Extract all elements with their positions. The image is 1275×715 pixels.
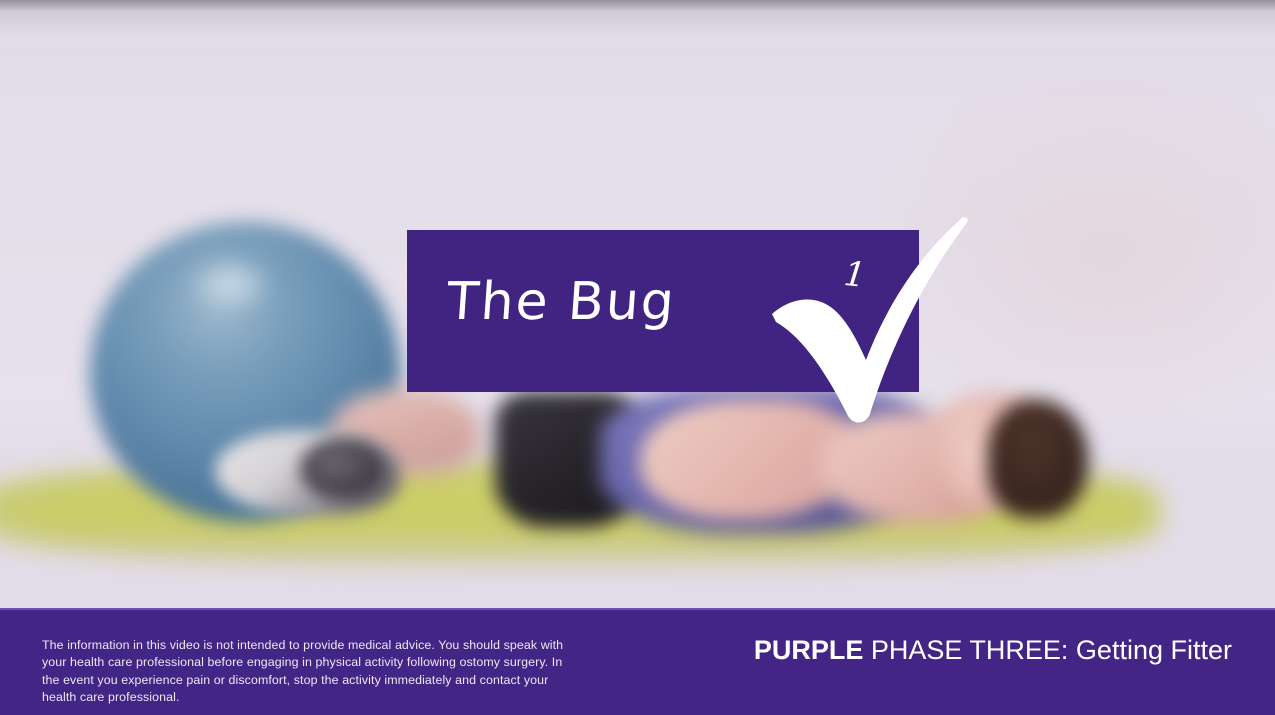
program-phase-label: PHASE THREE: Getting Fitter	[863, 635, 1232, 665]
lower-third-bar: The information in this video is not int…	[0, 608, 1275, 715]
person-shoe-sole	[300, 438, 386, 500]
exercise-ball-highlight	[185, 255, 275, 313]
program-brand-label: PURPLE	[754, 635, 864, 665]
exercise-title-banner: The Bug	[407, 230, 919, 392]
person-hair	[988, 400, 1088, 518]
exercise-name: The Bug	[445, 272, 678, 332]
program-phase-title: PURPLE PHASE THREE: Getting Fitter	[754, 633, 1232, 667]
video-frame: The Bug 1 The information in this video …	[0, 0, 1275, 715]
medical-disclaimer: The information in this video is not int…	[42, 637, 572, 707]
